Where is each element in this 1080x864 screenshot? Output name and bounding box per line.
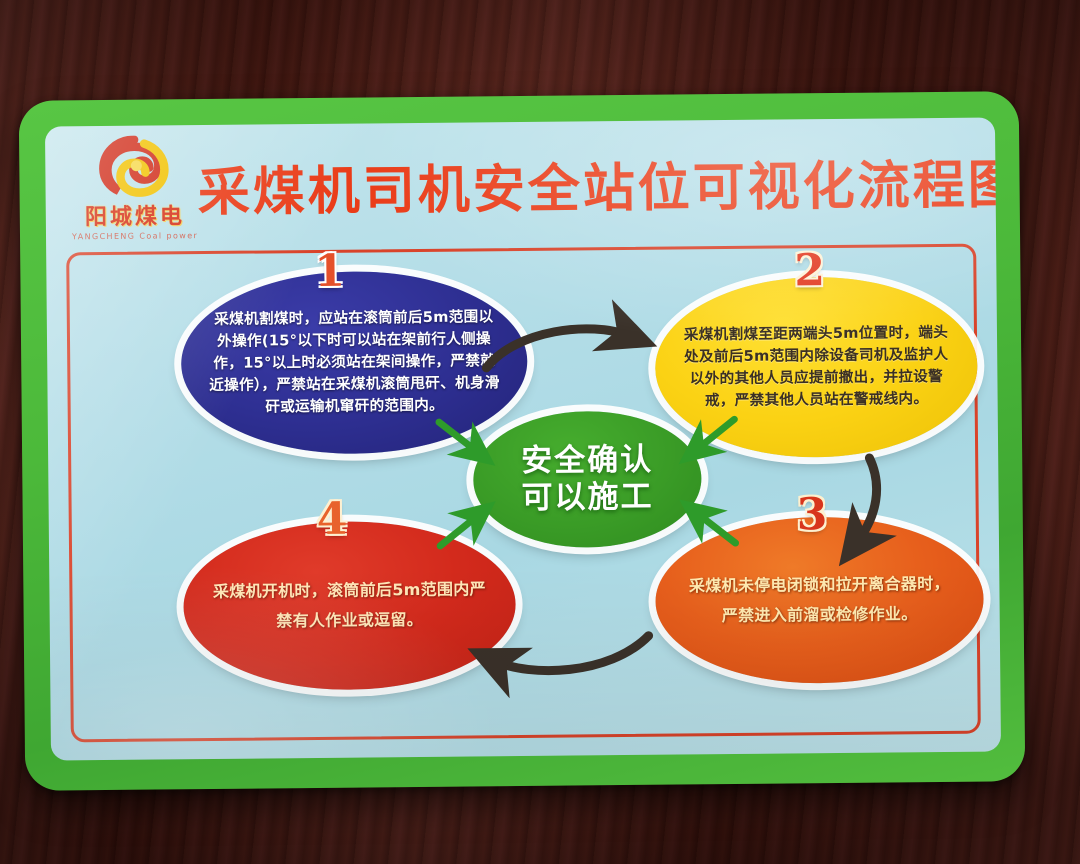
step-4-number: 4	[317, 498, 348, 542]
center-text: 安全确认 可以施工	[513, 441, 662, 517]
step-4-ellipse[interactable]: 采煤机开机时，滚筒前后5m范围内严禁有人作业或逗留。	[183, 520, 517, 691]
safety-flowchart-board: 阳城煤电 YANGCHENG Coal power 采煤机司机安全站位可视化流程…	[19, 91, 1026, 791]
center-line-2: 可以施工	[521, 479, 653, 516]
step-1-number: 1	[314, 250, 345, 294]
step-1-text: 采煤机割煤时，应站在滚筒前后5m范围以外操作(15°以下时可以站在架前行人侧操作…	[181, 306, 528, 419]
step-1-ellipse[interactable]: 采煤机割煤时，应站在滚筒前后5m范围以外操作(15°以下时可以站在架前行人侧操作…	[180, 270, 528, 455]
step-3-number: 3	[797, 493, 828, 537]
step-3-ellipse[interactable]: 采煤机未停电闭锁和拉开离合器时，严禁进入前溜或检修作业。	[655, 516, 985, 685]
flow-diagram: 采煤机割煤时，应站在滚筒前后5m范围以外操作(15°以下时可以站在架前行人侧操作…	[45, 117, 1001, 760]
center-safety-confirmation-ellipse[interactable]: 安全确认 可以施工	[473, 410, 702, 548]
step-2-number: 2	[794, 249, 825, 293]
step-2-text: 采煤机割煤至距两端头5m位置时，端头处及前后5m范围内除设备司机及监护人以外的其…	[655, 322, 978, 413]
step-2-ellipse[interactable]: 采煤机割煤至距两端头5m位置时，端头处及前后5m范围内除设备司机及监护人以外的其…	[654, 276, 978, 459]
step-4-text: 采煤机开机时，滚筒前后5m范围内严禁有人作业或逗留。	[183, 574, 516, 636]
step-3-text: 采煤机未停电闭锁和拉开离合器时，严禁进入前溜或检修作业。	[655, 569, 984, 631]
board-surface: 阳城煤电 YANGCHENG Coal power 采煤机司机安全站位可视化流程…	[45, 117, 1001, 760]
center-line-1: 安全确认	[521, 442, 653, 479]
